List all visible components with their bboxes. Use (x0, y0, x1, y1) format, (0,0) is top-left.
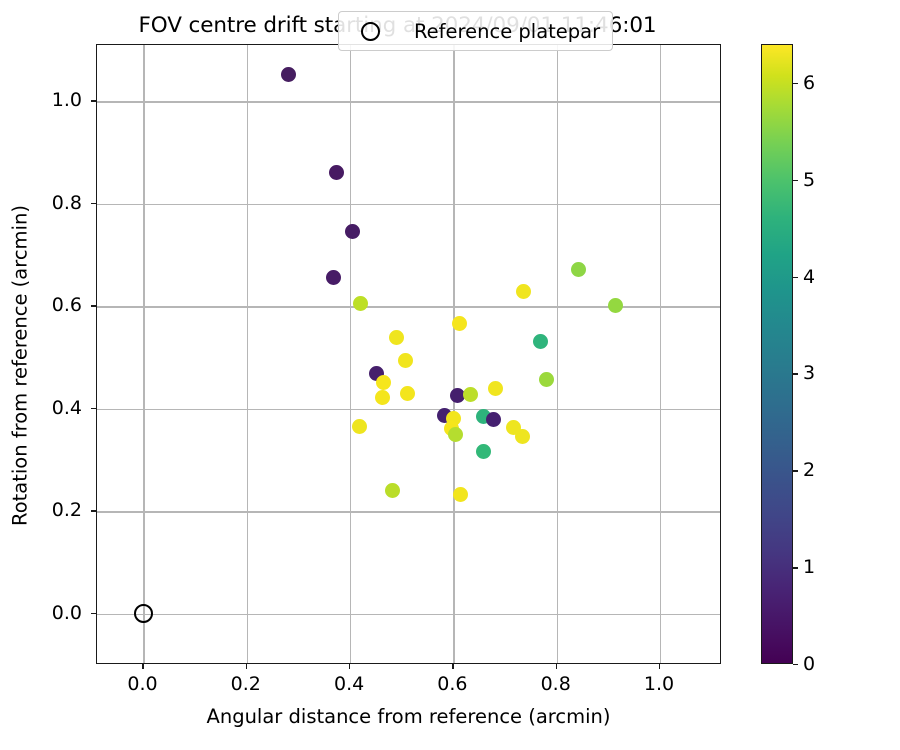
x-tick-mark (142, 664, 143, 669)
data-point (448, 427, 463, 442)
data-point (463, 387, 478, 402)
x-tick-mark (556, 664, 557, 669)
colorbar-tick-mark (793, 83, 798, 84)
colorbar-tick-label: 5 (803, 169, 815, 191)
data-point (452, 316, 467, 331)
data-point (486, 412, 501, 427)
x-tick-label: 0.4 (334, 673, 364, 695)
data-point (400, 386, 415, 401)
legend-item-label: Reference platepar (414, 20, 600, 43)
gridline-horizontal (97, 204, 720, 205)
data-point (389, 330, 404, 345)
colorbar-tick-mark (793, 373, 798, 374)
data-point (375, 390, 390, 405)
data-point (353, 296, 368, 311)
gridline-horizontal (97, 306, 720, 307)
colorbar-tick-label: 3 (803, 362, 815, 384)
data-point (352, 419, 367, 434)
colorbar-tick-label: 4 (803, 266, 815, 288)
y-axis-label: Rotation from reference (arcmin) (9, 56, 32, 676)
x-axis-label: Angular distance from reference (arcmin) (96, 705, 721, 728)
colorbar-tick-mark (793, 664, 798, 665)
scatter-plot-figure: FOV centre drift starting at 2024/09/01 … (0, 0, 900, 750)
data-point (376, 375, 391, 390)
data-point (398, 353, 413, 368)
x-tick-label: 0.8 (541, 673, 571, 695)
data-point (476, 444, 491, 459)
x-tick-mark (452, 664, 453, 669)
x-tick-label: 0.6 (437, 673, 467, 695)
data-point (515, 429, 530, 444)
gridline-horizontal (97, 409, 720, 410)
gridline-horizontal (97, 101, 720, 102)
x-tick-mark (659, 664, 660, 669)
reference-platepar-marker (134, 604, 153, 623)
colorbar-tick-mark (793, 180, 798, 181)
colorbar-tick-mark (793, 567, 798, 568)
data-point (329, 165, 344, 180)
data-point (539, 372, 554, 387)
legend[interactable]: Reference platepar (338, 11, 613, 51)
data-point (453, 487, 468, 502)
data-point (571, 262, 586, 277)
gridline-vertical (557, 45, 558, 663)
y-tick-mark (91, 510, 96, 511)
x-tick-label: 1.0 (644, 673, 674, 695)
gridline-horizontal (97, 511, 720, 512)
gridline-vertical (453, 45, 454, 663)
colorbar-tick-label: 6 (803, 72, 815, 94)
data-point (281, 67, 296, 82)
x-tick-mark (246, 664, 247, 669)
open-circle-icon (361, 22, 380, 41)
data-point (608, 298, 623, 313)
x-tick-mark (349, 664, 350, 669)
colorbar-tick-label: 1 (803, 556, 815, 578)
data-point (533, 334, 548, 349)
y-tick-mark (91, 305, 96, 306)
data-point (326, 270, 341, 285)
colorbar[interactable] (761, 44, 793, 664)
gridline-horizontal (97, 614, 720, 615)
data-point (516, 284, 531, 299)
colorbar-tick-mark (793, 277, 798, 278)
data-point (488, 381, 503, 396)
colorbar-tick-label: 0 (803, 653, 815, 675)
y-tick-mark (91, 408, 96, 409)
gridline-vertical (350, 45, 351, 663)
x-tick-label: 0.2 (231, 673, 261, 695)
data-point (345, 224, 360, 239)
x-tick-label: 0.0 (127, 673, 157, 695)
data-point (385, 483, 400, 498)
y-tick-mark (91, 100, 96, 101)
y-tick-mark (91, 203, 96, 204)
colorbar-gradient (761, 44, 793, 664)
gridline-vertical (143, 45, 144, 663)
colorbar-tick-mark (793, 470, 798, 471)
plot-axes-area (96, 44, 721, 664)
colorbar-tick-label: 2 (803, 459, 815, 481)
y-tick-mark (91, 613, 96, 614)
gridline-vertical (247, 45, 248, 663)
gridline-vertical (660, 45, 661, 663)
